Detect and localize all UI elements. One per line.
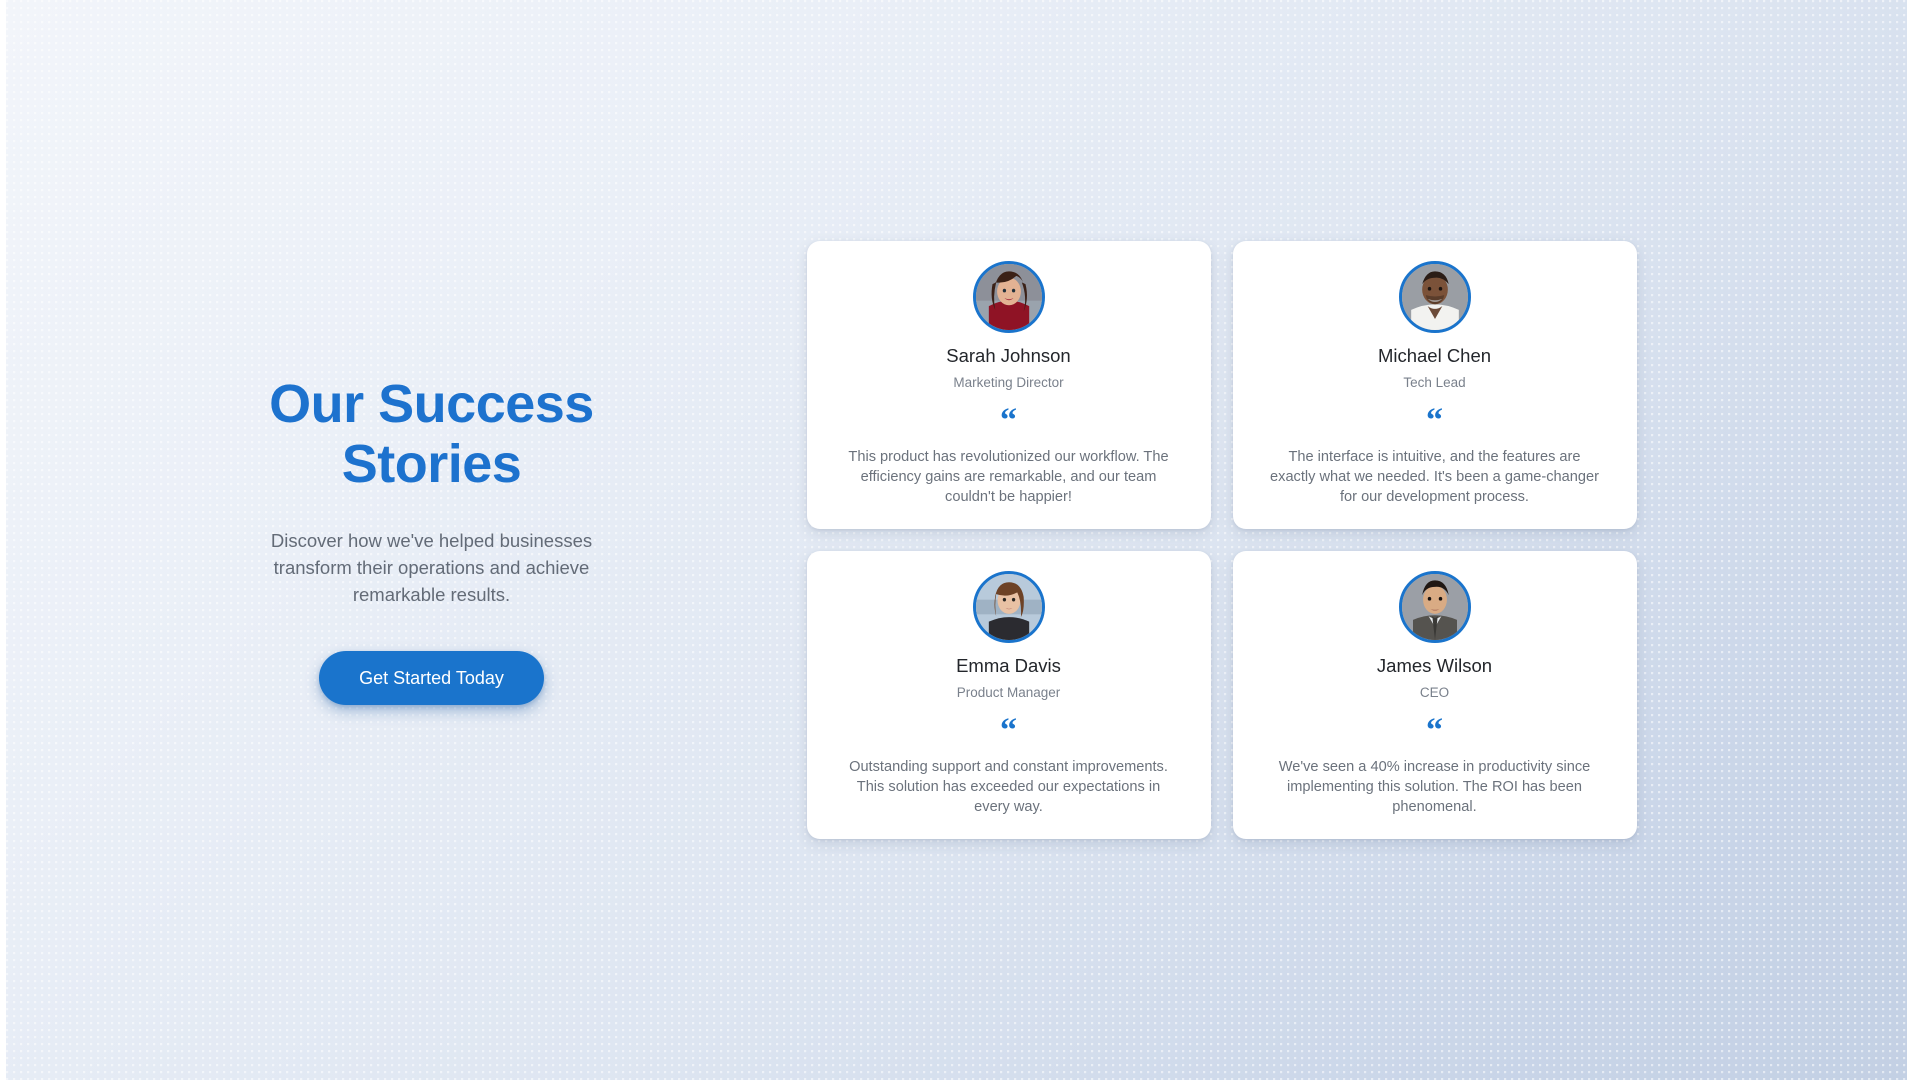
avatar [1399,571,1471,643]
testimonial-name: Emma Davis [956,655,1061,677]
testimonial-name: Sarah Johnson [946,345,1070,367]
avatar [1399,261,1471,333]
testimonial-card[interactable]: Michael Chen Tech Lead “ The interface i… [1233,241,1637,529]
hero-subtitle: Discover how we've helped businesses tra… [242,528,622,608]
testimonial-name: Michael Chen [1378,345,1491,367]
testimonial-card[interactable]: Emma Davis Product Manager “ Outstanding… [807,551,1211,839]
testimonial-card[interactable]: James Wilson CEO “ We've seen a 40% incr… [1233,551,1637,839]
testimonial-card[interactable]: Sarah Johnson Marketing Director “ This … [807,241,1211,529]
page-background: Our Success Stories Discover how we've h… [6,0,1907,1080]
hero-section: Our Success Stories Discover how we've h… [87,90,1827,990]
get-started-button[interactable]: Get Started Today [319,651,544,705]
testimonial-role: Product Manager [957,685,1061,701]
testimonial-quote: We've seen a 40% increase in productivit… [1265,757,1605,817]
testimonial-quote: Outstanding support and constant improve… [839,757,1179,817]
testimonial-quote: The interface is intuitive, and the feat… [1265,447,1605,507]
double-quote-icon: “ [1000,720,1017,742]
double-quote-icon: “ [1426,720,1443,742]
testimonial-role: Marketing Director [953,375,1063,391]
testimonial-name: James Wilson [1377,655,1492,677]
avatar [973,571,1045,643]
page-title: Our Success Stories [262,375,602,494]
double-quote-icon: “ [1426,410,1443,432]
hero-text-column: Our Success Stories Discover how we've h… [87,375,777,704]
testimonial-role: CEO [1420,685,1449,701]
testimonial-quote: This product has revolutionized our work… [839,447,1179,507]
avatar [973,261,1045,333]
double-quote-icon: “ [1000,410,1017,432]
testimonial-role: Tech Lead [1403,375,1465,391]
testimonial-grid: Sarah Johnson Marketing Director “ This … [807,241,1637,839]
